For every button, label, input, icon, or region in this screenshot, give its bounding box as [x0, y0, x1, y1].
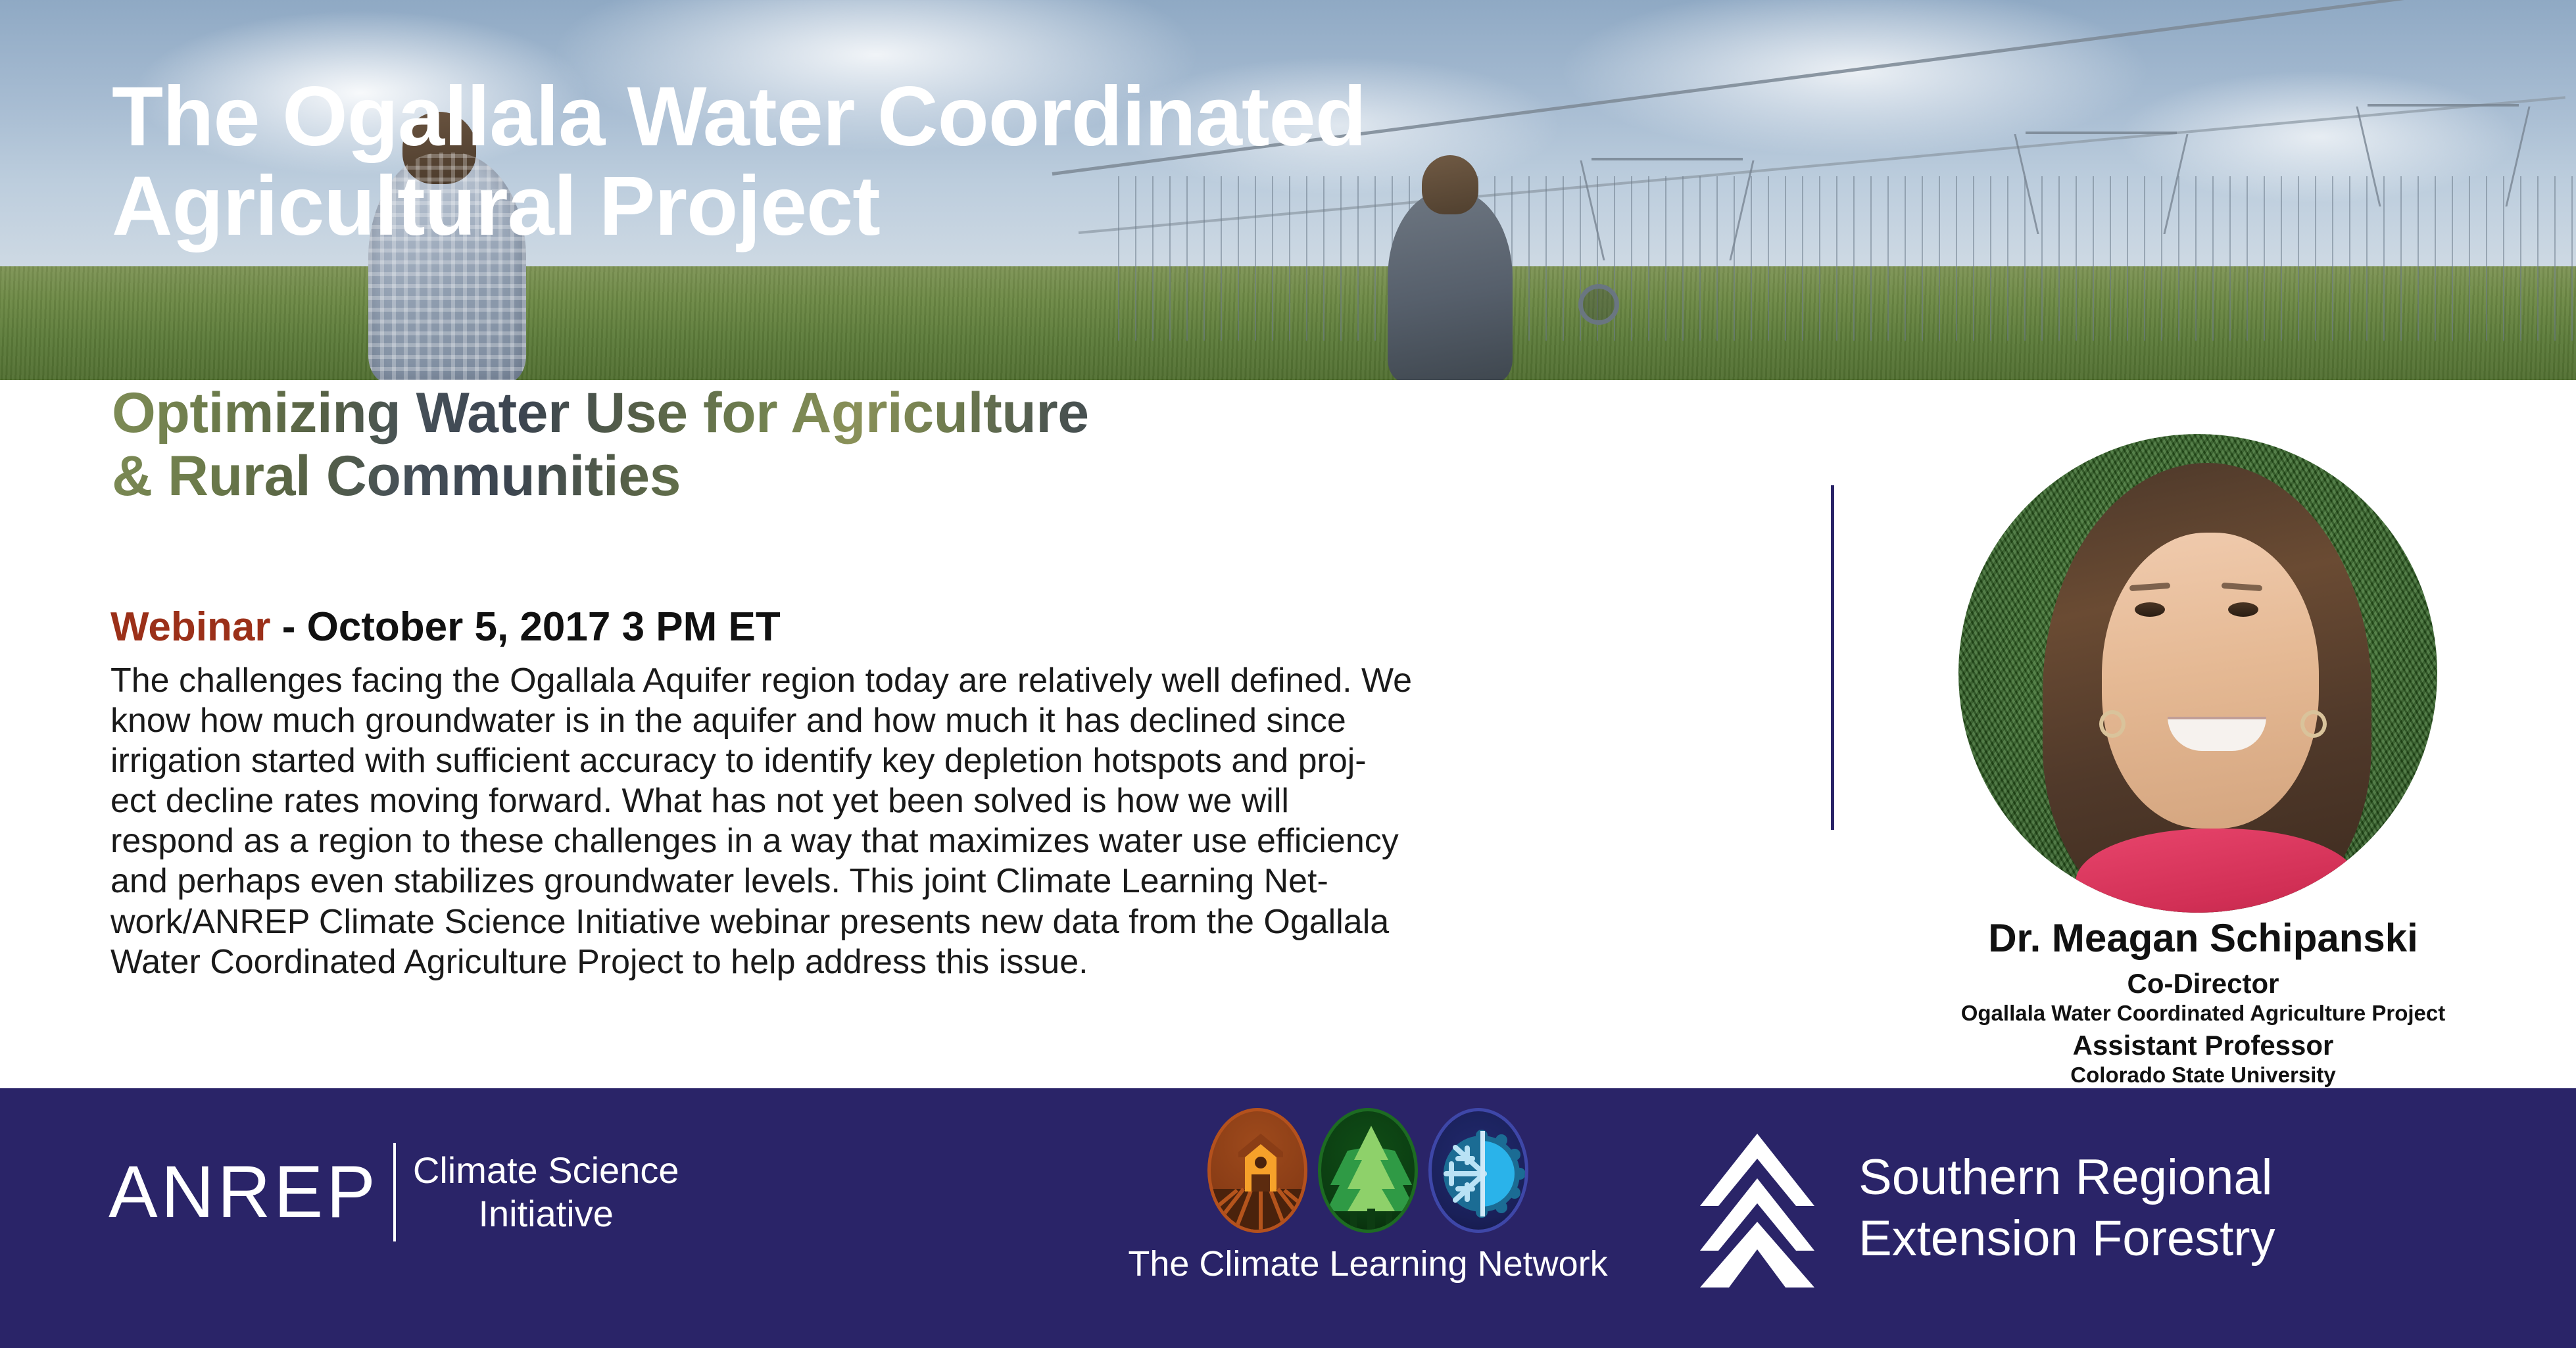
sref-line-1: Southern Regional	[1859, 1147, 2275, 1209]
anrep-subtitle-line-2: Initiative	[413, 1192, 679, 1236]
anrep-acronym: ANREP	[109, 1155, 379, 1229]
body-line: know how much groundwater is in the aqui…	[110, 701, 1794, 741]
event-datetime-heading: Webinar - October 5, 2017 3 PM ET	[110, 604, 781, 650]
body-line: ect decline rates moving forward. What h…	[110, 781, 1794, 821]
avatar-earring	[2099, 710, 2126, 738]
avatar-eye	[2135, 602, 2165, 617]
speaker-name: Dr. Meagan Schipanski	[1835, 915, 2571, 961]
event-kicker: Webinar	[110, 604, 270, 650]
cln-caption: The Climate Learning Network	[1079, 1243, 1657, 1284]
subtitle-line-2: & Rural Communities	[112, 445, 1756, 508]
anrep-subtitle-line-1: Climate Science	[413, 1149, 679, 1191]
vertical-divider	[1831, 485, 1834, 830]
speaker-role-primary: Co-Director	[1835, 968, 2571, 999]
body-line: and perhaps even stabilizes groundwater …	[110, 861, 1794, 902]
climate-learning-network-logo: The Climate Learning Network	[1079, 1108, 1657, 1284]
description-paragraph: The challenges facing the Ogallala Aquif…	[110, 661, 1794, 982]
page-subtitle: Optimizing Water Use for Agriculture & R…	[112, 381, 1756, 508]
anrep-subtitle: Climate Science Initiative	[413, 1149, 679, 1236]
body-line: The challenges facing the Ogallala Aquif…	[110, 661, 1794, 701]
cln-icon-group	[1079, 1108, 1657, 1233]
speaker-org-primary: Ogallala Water Coordinated Agriculture P…	[1835, 1001, 2571, 1026]
pivot-wheel-icon	[1578, 284, 1619, 325]
body-line: work/ANREP Climate Science Initiative we…	[110, 902, 1794, 942]
subtitle-line-1: Optimizing Water Use for Agriculture	[112, 381, 1756, 445]
avatar-earring	[2300, 710, 2327, 738]
title-line-1: The Ogallala Water Coordinated	[112, 72, 2216, 162]
speaker-avatar	[1958, 434, 2437, 913]
body-line: Water Coordinated Agriculture Project to…	[110, 942, 1794, 982]
pine-trees-icon	[1318, 1108, 1418, 1233]
event-details: - October 5, 2017 3 PM ET	[270, 604, 780, 650]
pivot-truss-icon	[2368, 104, 2519, 203]
barn-field-icon	[1207, 1108, 1307, 1233]
sref-wordmark: Southern Regional Extension Forestry	[1859, 1147, 2275, 1269]
page-title: The Ogallala Water Coordinated Agricultu…	[112, 72, 2216, 251]
speaker-role-secondary: Assistant Professor	[1835, 1030, 2571, 1061]
snowflake-sun-icon	[1428, 1108, 1528, 1233]
triple-chevron-icon	[1687, 1130, 1828, 1288]
sref-line-2: Extension Forestry	[1859, 1209, 2275, 1270]
title-line-2: Agricultural Project	[112, 162, 2216, 251]
anrep-logo: ANREP Climate Science Initiative	[109, 1143, 679, 1241]
body-line: respond as a region to these challenges …	[110, 821, 1794, 861]
avatar-face	[2102, 533, 2319, 829]
sref-logo: Southern Regional Extension Forestry	[1687, 1130, 2275, 1288]
speaker-org-secondary: Colorado State University	[1835, 1063, 2571, 1088]
body-line: irrigation started with sufficient accur…	[110, 741, 1794, 781]
anrep-divider-rule	[393, 1143, 396, 1241]
avatar-eye	[2228, 602, 2258, 617]
